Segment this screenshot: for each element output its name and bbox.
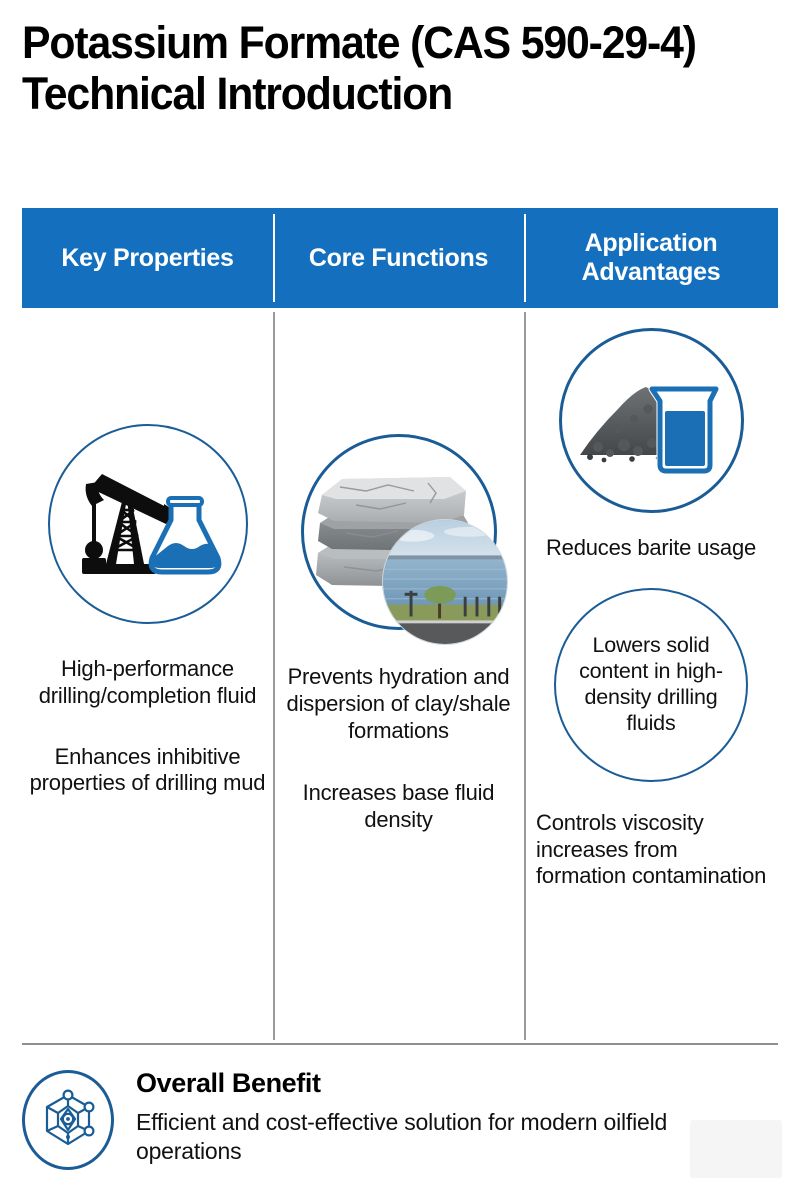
columns-container: High-performance drilling/completion flu… xyxy=(22,312,778,1040)
lakeside-photo-inset xyxy=(382,519,508,645)
infographic-page: Potassium Formate (CAS 590-29-4) Technic… xyxy=(0,0,800,1200)
column-header-core-functions: Core Functions xyxy=(273,208,524,308)
column-item-text: Increases base fluid density xyxy=(279,780,518,834)
column-header-label: Application Advantages xyxy=(530,229,772,287)
column-core-functions: Prevents hydration and dispersion of cla… xyxy=(273,312,524,1040)
column-header-label: Key Properties xyxy=(61,244,233,273)
column-item-text: High-performance drilling/completion flu… xyxy=(28,656,267,710)
column-item-text: Lowers solid content in high-density dri… xyxy=(574,633,728,736)
column-header-label: Core Functions xyxy=(309,244,488,273)
column-item-text: Enhances inhibitive properties of drilli… xyxy=(28,744,267,798)
barite-powder-beaker-icon-wrap xyxy=(559,328,744,513)
column-item-text: Reduces barite usage xyxy=(530,535,772,562)
pumpjack-flask-icon-wrap xyxy=(48,424,248,624)
overall-benefit-section: Overall Benefit Efficient and cost-effec… xyxy=(22,1066,778,1170)
column-item-text: Controls viscosity increases from format… xyxy=(530,810,772,890)
molecule-network-icon xyxy=(22,1070,114,1170)
overall-benefit-title: Overall Benefit xyxy=(136,1068,696,1100)
column-item-text: Prevents hydration and dispersion of cla… xyxy=(279,664,518,744)
column-key-properties: High-performance drilling/completion flu… xyxy=(22,312,273,1040)
column-application-advantages: Reduces barite usage Lowers solid conten… xyxy=(524,312,778,1040)
highlight-bubble: Lowers solid content in high-density dri… xyxy=(554,588,748,782)
page-title: Potassium Formate (CAS 590-29-4) Technic… xyxy=(22,18,706,120)
watermark-placeholder xyxy=(690,1120,782,1178)
column-header-key-properties: Key Properties xyxy=(22,208,273,308)
overall-benefit-subtitle: Efficient and cost-effective solution fo… xyxy=(136,1108,696,1166)
shale-stack-landscape-icon-wrap xyxy=(301,434,497,630)
column-header-application-advantages: Application Advantages xyxy=(524,208,778,308)
column-header-bar: Key Properties Core Functions Applicatio… xyxy=(22,208,778,308)
pumpjack-flask-icon xyxy=(48,424,248,624)
shale-stack-landscape-icon xyxy=(301,434,497,630)
overall-benefit-text: Overall Benefit Efficient and cost-effec… xyxy=(136,1066,696,1166)
footer-divider xyxy=(22,1043,778,1045)
barite-powder-beaker-icon xyxy=(559,328,744,513)
